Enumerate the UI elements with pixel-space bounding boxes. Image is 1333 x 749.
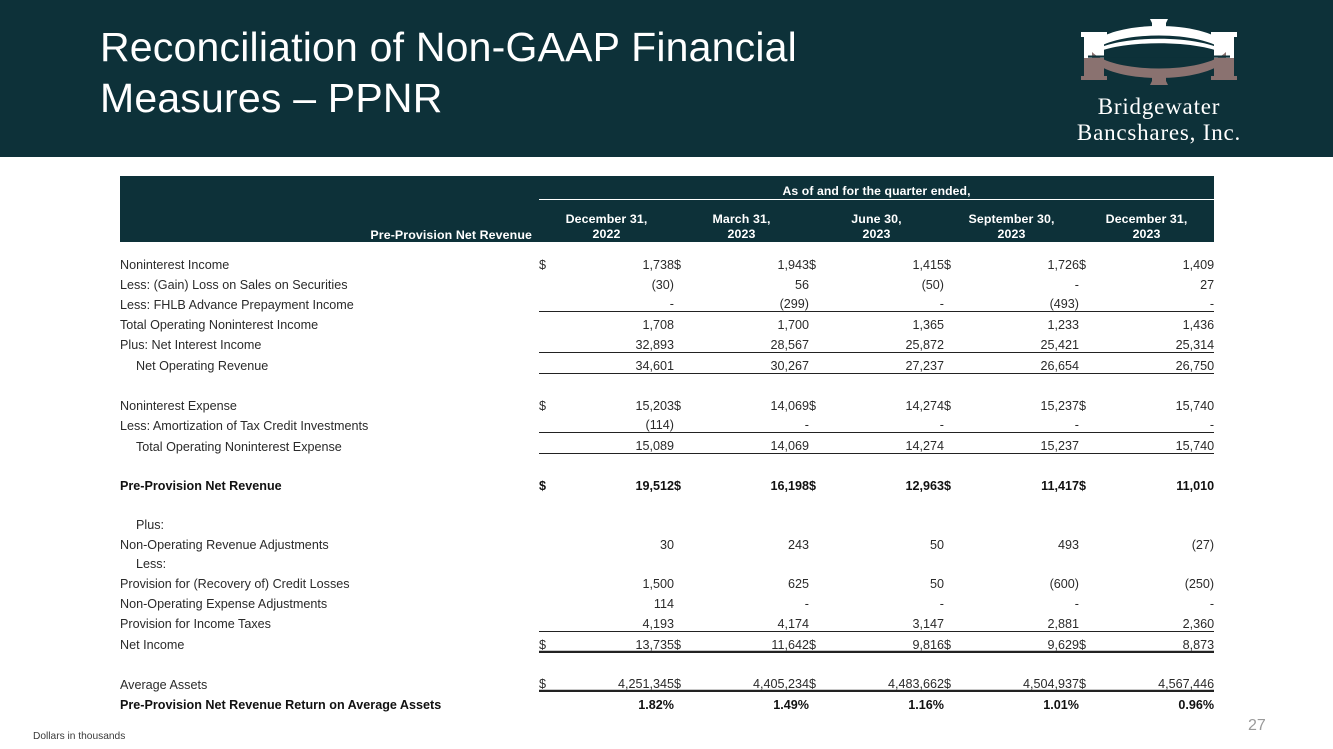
row-currency bbox=[539, 692, 563, 712]
financial-table-container: As of and for the quarter ended, Pre-Pro… bbox=[120, 176, 1214, 712]
column-header-2: March 31, 2023 bbox=[674, 200, 809, 243]
row-value: 1.49% bbox=[698, 692, 809, 712]
row-label: Plus: bbox=[120, 512, 539, 532]
row-currency bbox=[809, 552, 833, 572]
row-currency bbox=[809, 692, 833, 712]
row-value: 2,360 bbox=[1103, 611, 1214, 631]
row-value bbox=[968, 552, 1079, 572]
table-row: Noninterest Income $ 1,738 $ 1,943 $ 1,4… bbox=[120, 252, 1214, 272]
row-value bbox=[833, 552, 944, 572]
row-value: 16,198 bbox=[698, 473, 809, 493]
row-currency: $ bbox=[944, 393, 968, 413]
row-currency bbox=[809, 512, 833, 532]
row-value: 3,147 bbox=[833, 611, 944, 631]
ppnr-reconciliation-table: As of and for the quarter ended, Pre-Pro… bbox=[120, 176, 1214, 712]
row-value: 32,893 bbox=[563, 332, 674, 352]
row-value: 30,267 bbox=[698, 352, 809, 373]
logo-wordmark-line-1: Bridgewater bbox=[1029, 94, 1289, 120]
row-value: 34,601 bbox=[563, 352, 674, 373]
row-value bbox=[968, 512, 1079, 532]
row-value: 0.96% bbox=[1103, 692, 1214, 712]
row-currency bbox=[809, 611, 833, 631]
page-number: 27 bbox=[1248, 717, 1266, 735]
row-value: - bbox=[833, 292, 944, 312]
row-value: (250) bbox=[1103, 571, 1214, 591]
table-row: Plus: Net Interest Income 32,893 28,567 … bbox=[120, 332, 1214, 352]
row-value: 14,274 bbox=[833, 433, 944, 454]
table-row: Non-Operating Revenue Adjustments 30 243… bbox=[120, 532, 1214, 552]
row-value: 625 bbox=[698, 571, 809, 591]
row-currency bbox=[1079, 272, 1103, 292]
column-header-3: June 30, 2023 bbox=[809, 200, 944, 243]
row-value: 8,873 bbox=[1103, 631, 1214, 652]
row-currency bbox=[674, 352, 698, 373]
row-currency bbox=[809, 591, 833, 611]
row-value: (50) bbox=[833, 272, 944, 292]
row-currency: $ bbox=[674, 252, 698, 272]
row-currency: $ bbox=[674, 672, 698, 692]
row-label: Provision for (Recovery of) Credit Losse… bbox=[120, 571, 539, 591]
row-value: - bbox=[563, 292, 674, 312]
row-currency bbox=[1079, 413, 1103, 433]
column-header-3-month: June 30, bbox=[809, 212, 944, 227]
column-header-2-month: March 31, bbox=[674, 212, 809, 227]
row-value bbox=[563, 552, 674, 572]
row-value: 30 bbox=[563, 532, 674, 552]
company-logo: Bridgewater Bancshares, Inc. bbox=[1029, 14, 1289, 146]
row-currency: $ bbox=[944, 631, 968, 652]
row-value: - bbox=[1103, 591, 1214, 611]
column-header-4-month: September 30, bbox=[944, 212, 1079, 227]
row-label: Provision for Income Taxes bbox=[120, 611, 539, 631]
row-label: Less: bbox=[120, 552, 539, 572]
row-value: - bbox=[968, 591, 1079, 611]
row-value: 25,872 bbox=[833, 332, 944, 352]
row-value: 15,203 bbox=[563, 393, 674, 413]
row-value: 15,089 bbox=[563, 433, 674, 454]
group-header-spacer bbox=[120, 176, 539, 200]
row-value: - bbox=[833, 413, 944, 433]
row-currency bbox=[539, 272, 563, 292]
row-value: 4,174 bbox=[698, 611, 809, 631]
row-currency bbox=[674, 532, 698, 552]
row-value: 14,274 bbox=[833, 393, 944, 413]
row-value bbox=[1103, 512, 1214, 532]
column-header-1-month: December 31, bbox=[539, 212, 674, 227]
slide-header-banner: Reconciliation of Non-GAAP Financial Mea… bbox=[0, 0, 1333, 157]
column-header-4-year: 2023 bbox=[944, 227, 1079, 242]
row-value: (493) bbox=[968, 292, 1079, 312]
row-currency bbox=[944, 591, 968, 611]
row-value: 4,405,234 bbox=[698, 672, 809, 692]
row-value: (600) bbox=[968, 571, 1079, 591]
row-currency bbox=[539, 512, 563, 532]
row-value bbox=[1103, 552, 1214, 572]
table-row: Less: (Gain) Loss on Sales on Securities… bbox=[120, 272, 1214, 292]
row-value: (114) bbox=[563, 413, 674, 433]
row-value: 25,421 bbox=[968, 332, 1079, 352]
row-value: 1,436 bbox=[1103, 312, 1214, 332]
row-value: 1.82% bbox=[563, 692, 674, 712]
table-row: Less: Amortization of Tax Credit Investm… bbox=[120, 413, 1214, 433]
row-currency bbox=[539, 433, 563, 454]
row-value: 11,010 bbox=[1103, 473, 1214, 493]
row-currency bbox=[674, 312, 698, 332]
row-label: Noninterest Expense bbox=[120, 393, 539, 413]
row-currency bbox=[539, 312, 563, 332]
row-currency bbox=[1079, 433, 1103, 454]
row-label: Net Operating Revenue bbox=[120, 352, 539, 373]
row-currency bbox=[944, 611, 968, 631]
row-value: (30) bbox=[563, 272, 674, 292]
table-row: Provision for Income Taxes 4,193 4,174 3… bbox=[120, 611, 1214, 631]
row-currency bbox=[809, 272, 833, 292]
row-value: 28,567 bbox=[698, 332, 809, 352]
row-value: 26,654 bbox=[968, 352, 1079, 373]
row-currency bbox=[674, 272, 698, 292]
row-label: Less: Amortization of Tax Credit Investm… bbox=[120, 413, 539, 433]
row-currency bbox=[539, 571, 563, 591]
row-currency bbox=[944, 312, 968, 332]
row-value: 4,504,937 bbox=[968, 672, 1079, 692]
row-currency bbox=[944, 272, 968, 292]
row-currency bbox=[1079, 312, 1103, 332]
table-row-net-income: Net Income $ 13,735 $ 11,642 $ 9,816 $ 9… bbox=[120, 631, 1214, 652]
row-currency bbox=[539, 591, 563, 611]
table-row-ppnr-roaa: Pre-Provision Net Revenue Return on Aver… bbox=[120, 692, 1214, 712]
row-currency bbox=[809, 292, 833, 312]
row-value: 4,567,446 bbox=[1103, 672, 1214, 692]
row-currency: $ bbox=[809, 672, 833, 692]
column-header-5-year: 2023 bbox=[1079, 227, 1214, 242]
row-currency: $ bbox=[1079, 473, 1103, 493]
row-currency bbox=[944, 512, 968, 532]
row-currency bbox=[1079, 552, 1103, 572]
row-currency bbox=[1079, 352, 1103, 373]
row-value: 15,740 bbox=[1103, 433, 1214, 454]
group-header-label: As of and for the quarter ended, bbox=[539, 176, 1214, 200]
row-currency bbox=[944, 413, 968, 433]
row-value: 9,816 bbox=[833, 631, 944, 652]
row-currency bbox=[539, 611, 563, 631]
row-value: 1,943 bbox=[698, 252, 809, 272]
row-currency bbox=[944, 552, 968, 572]
row-value: 27 bbox=[1103, 272, 1214, 292]
row-label: Total Operating Noninterest Income bbox=[120, 312, 539, 332]
row-currency bbox=[1079, 332, 1103, 352]
row-currency: $ bbox=[944, 672, 968, 692]
row-value bbox=[698, 512, 809, 532]
table-row-average-assets: Average Assets $ 4,251,345 $ 4,405,234 $… bbox=[120, 672, 1214, 692]
row-value bbox=[833, 512, 944, 532]
row-value: 1,738 bbox=[563, 252, 674, 272]
table-spacer-row bbox=[120, 373, 1214, 393]
row-value: 15,237 bbox=[968, 433, 1079, 454]
column-header-1: December 31, 2022 bbox=[539, 200, 674, 243]
row-currency bbox=[1079, 532, 1103, 552]
row-value: 50 bbox=[833, 571, 944, 591]
footnote-dollars-in-thousands: Dollars in thousands bbox=[33, 731, 125, 742]
row-value: 11,417 bbox=[968, 473, 1079, 493]
row-currency: $ bbox=[674, 393, 698, 413]
row-value: 12,963 bbox=[833, 473, 944, 493]
row-value: - bbox=[698, 413, 809, 433]
table-row: Net Operating Revenue 34,601 30,267 27,2… bbox=[120, 352, 1214, 373]
row-currency bbox=[944, 352, 968, 373]
row-value: (299) bbox=[698, 292, 809, 312]
row-currency bbox=[809, 571, 833, 591]
row-value: 13,735 bbox=[563, 631, 674, 652]
row-currency bbox=[539, 292, 563, 312]
row-value: 1.16% bbox=[833, 692, 944, 712]
table-top-gap-row bbox=[120, 242, 1214, 252]
row-currency bbox=[944, 571, 968, 591]
row-value: 1,500 bbox=[563, 571, 674, 591]
row-value: 493 bbox=[968, 532, 1079, 552]
row-value: 26,750 bbox=[1103, 352, 1214, 373]
row-value: 2,881 bbox=[968, 611, 1079, 631]
row-value: - bbox=[1103, 413, 1214, 433]
row-value: 114 bbox=[563, 591, 674, 611]
row-currency: $ bbox=[539, 252, 563, 272]
row-currency: $ bbox=[1079, 631, 1103, 652]
row-currency bbox=[1079, 512, 1103, 532]
row-currency bbox=[539, 332, 563, 352]
row-currency: $ bbox=[809, 393, 833, 413]
row-currency: $ bbox=[674, 631, 698, 652]
page-title: Reconciliation of Non-GAAP Financial Mea… bbox=[100, 22, 980, 124]
row-currency: $ bbox=[944, 252, 968, 272]
row-currency bbox=[674, 413, 698, 433]
row-currency: $ bbox=[809, 473, 833, 493]
row-currency bbox=[674, 552, 698, 572]
row-currency: $ bbox=[809, 631, 833, 652]
column-header-4: September 30, 2023 bbox=[944, 200, 1079, 243]
row-label: Pre-Provision Net Revenue Return on Aver… bbox=[120, 692, 539, 712]
row-value: 9,629 bbox=[968, 631, 1079, 652]
row-currency: $ bbox=[539, 672, 563, 692]
row-currency bbox=[944, 532, 968, 552]
row-currency bbox=[1079, 611, 1103, 631]
row-value: - bbox=[968, 413, 1079, 433]
table-row: Plus: bbox=[120, 512, 1214, 532]
row-label: Less: (Gain) Loss on Sales on Securities bbox=[120, 272, 539, 292]
table-spacer-row bbox=[120, 652, 1214, 672]
row-currency: $ bbox=[539, 473, 563, 493]
row-currency bbox=[944, 292, 968, 312]
row-value: - bbox=[968, 272, 1079, 292]
row-label: Pre-Provision Net Revenue bbox=[120, 473, 539, 493]
row-currency bbox=[1079, 292, 1103, 312]
row-currency bbox=[674, 571, 698, 591]
row-currency bbox=[1079, 692, 1103, 712]
table-row: Total Operating Noninterest Income 1,708… bbox=[120, 312, 1214, 332]
row-currency bbox=[539, 413, 563, 433]
bridge-arch-logo-icon bbox=[1074, 14, 1244, 90]
row-label: Non-Operating Expense Adjustments bbox=[120, 591, 539, 611]
column-header-5-month: December 31, bbox=[1079, 212, 1214, 227]
row-value: 1,365 bbox=[833, 312, 944, 332]
table-spacer-row bbox=[120, 493, 1214, 512]
row-value: 11,642 bbox=[698, 631, 809, 652]
row-currency bbox=[674, 591, 698, 611]
row-currency bbox=[809, 332, 833, 352]
row-value: 27,237 bbox=[833, 352, 944, 373]
row-value: 19,512 bbox=[563, 473, 674, 493]
row-value: 56 bbox=[698, 272, 809, 292]
row-value: 4,251,345 bbox=[563, 672, 674, 692]
column-header-2-year: 2023 bbox=[674, 227, 809, 242]
row-currency bbox=[1079, 591, 1103, 611]
row-value: 14,069 bbox=[698, 433, 809, 454]
row-value: 1,708 bbox=[563, 312, 674, 332]
row-currency bbox=[944, 433, 968, 454]
row-value: 4,193 bbox=[563, 611, 674, 631]
row-value: - bbox=[1103, 292, 1214, 312]
table-row: Provision for (Recovery of) Credit Losse… bbox=[120, 571, 1214, 591]
row-currency bbox=[944, 692, 968, 712]
row-currency bbox=[809, 532, 833, 552]
row-currency: $ bbox=[539, 631, 563, 652]
row-currency bbox=[674, 611, 698, 631]
row-currency bbox=[674, 692, 698, 712]
row-currency: $ bbox=[944, 473, 968, 493]
row-value: 1.01% bbox=[968, 692, 1079, 712]
row-currency: $ bbox=[674, 473, 698, 493]
row-value: 243 bbox=[698, 532, 809, 552]
row-currency bbox=[539, 532, 563, 552]
row-currency bbox=[674, 292, 698, 312]
row-label: Plus: Net Interest Income bbox=[120, 332, 539, 352]
row-currency bbox=[809, 312, 833, 332]
row-currency: $ bbox=[1079, 672, 1103, 692]
row-value: 50 bbox=[833, 532, 944, 552]
column-header-1-year: 2022 bbox=[539, 227, 674, 242]
row-label: Net Income bbox=[120, 631, 539, 652]
row-currency bbox=[944, 332, 968, 352]
row-value: 14,069 bbox=[698, 393, 809, 413]
row-currency: $ bbox=[809, 252, 833, 272]
table-group-header-row: As of and for the quarter ended, bbox=[120, 176, 1214, 200]
row-value: - bbox=[698, 591, 809, 611]
row-label: Average Assets bbox=[120, 672, 539, 692]
row-currency: $ bbox=[1079, 252, 1103, 272]
row-value: 15,237 bbox=[968, 393, 1079, 413]
row-currency: $ bbox=[539, 393, 563, 413]
row-label: Total Operating Noninterest Expense bbox=[120, 433, 539, 454]
row-currency bbox=[809, 413, 833, 433]
table-row: Less: bbox=[120, 552, 1214, 572]
row-value: 25,314 bbox=[1103, 332, 1214, 352]
table-column-header-row: Pre-Provision Net Revenue December 31, 2… bbox=[120, 200, 1214, 243]
row-currency: $ bbox=[1079, 393, 1103, 413]
logo-wordmark-line-2: Bancshares, Inc. bbox=[1029, 120, 1289, 146]
row-currency bbox=[539, 552, 563, 572]
row-currency bbox=[539, 352, 563, 373]
row-value: 4,483,662 bbox=[833, 672, 944, 692]
row-currency bbox=[674, 332, 698, 352]
row-label: Non-Operating Revenue Adjustments bbox=[120, 532, 539, 552]
row-value: 1,409 bbox=[1103, 252, 1214, 272]
row-value: 15,740 bbox=[1103, 393, 1214, 413]
table-row: Total Operating Noninterest Expense 15,0… bbox=[120, 433, 1214, 454]
row-currency bbox=[674, 512, 698, 532]
row-currency bbox=[1079, 571, 1103, 591]
row-currency bbox=[674, 433, 698, 454]
table-row: Less: FHLB Advance Prepayment Income - (… bbox=[120, 292, 1214, 312]
row-value: 1,726 bbox=[968, 252, 1079, 272]
row-label: Less: FHLB Advance Prepayment Income bbox=[120, 292, 539, 312]
row-value bbox=[698, 552, 809, 572]
table-row: Noninterest Expense $ 15,203 $ 14,069 $ … bbox=[120, 393, 1214, 413]
row-value bbox=[563, 512, 674, 532]
row-label-column-header: Pre-Provision Net Revenue bbox=[120, 200, 539, 243]
table-spacer-row bbox=[120, 454, 1214, 474]
row-value: (27) bbox=[1103, 532, 1214, 552]
row-value: 1,700 bbox=[698, 312, 809, 332]
row-value: 1,233 bbox=[968, 312, 1079, 332]
logo-wordmark: Bridgewater Bancshares, Inc. bbox=[1029, 94, 1289, 146]
row-value: 1,415 bbox=[833, 252, 944, 272]
column-header-3-year: 2023 bbox=[809, 227, 944, 242]
table-row-ppnr-total: Pre-Provision Net Revenue $ 19,512 $ 16,… bbox=[120, 473, 1214, 493]
row-label: Noninterest Income bbox=[120, 252, 539, 272]
row-value: - bbox=[833, 591, 944, 611]
column-header-5: December 31, 2023 bbox=[1079, 200, 1214, 243]
row-currency bbox=[809, 433, 833, 454]
table-row: Non-Operating Expense Adjustments 114 - … bbox=[120, 591, 1214, 611]
row-currency bbox=[809, 352, 833, 373]
